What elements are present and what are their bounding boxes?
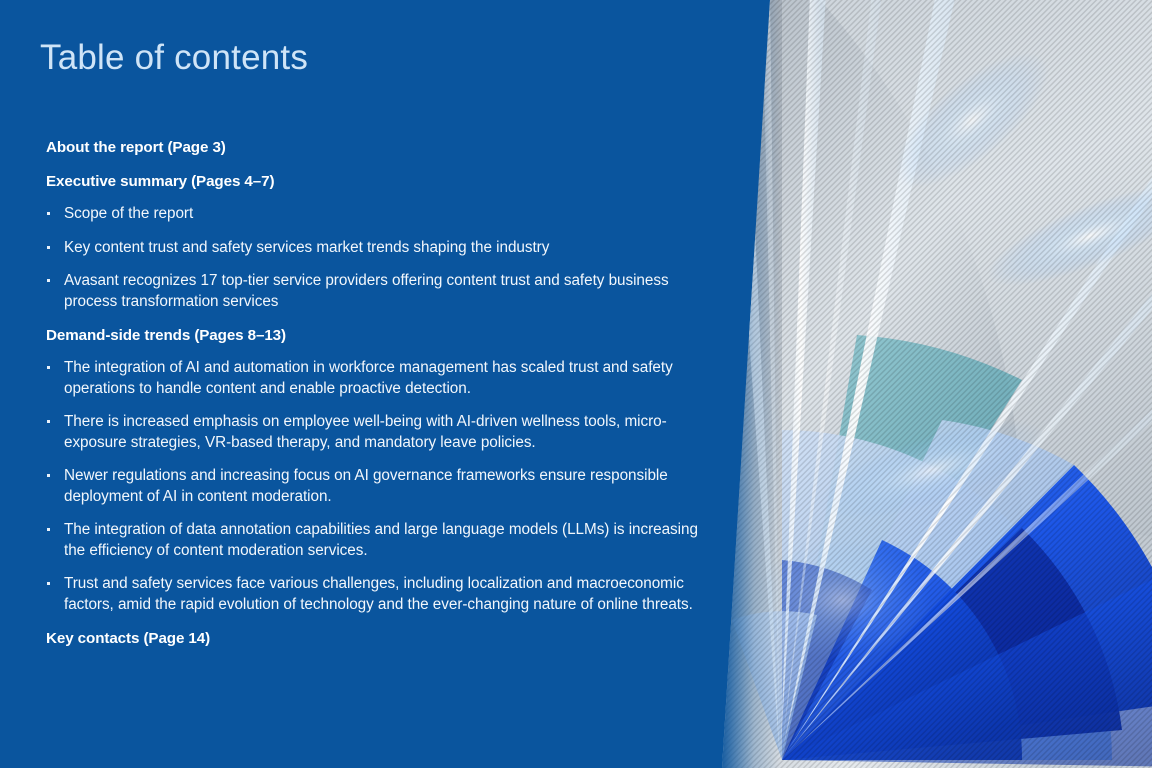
toc-section-heading[interactable]: Key contacts (Page 14) — [46, 629, 706, 649]
toc-bullet-item[interactable]: Trust and safety services face various c… — [46, 574, 706, 615]
bullet-dot-icon — [47, 528, 50, 531]
bullet-dot-icon — [47, 279, 50, 282]
bullet-dot-icon — [47, 212, 50, 215]
toc-bullet-item[interactable]: Key content trust and safety services ma… — [46, 238, 706, 259]
toc-bullet-label: The integration of data annotation capab… — [64, 521, 698, 559]
toc-bullet-item[interactable]: Newer regulations and increasing focus o… — [46, 466, 706, 507]
toc-bullet-item[interactable]: There is increased emphasis on employee … — [46, 412, 706, 453]
slide-root: Table of contents About the report (Page… — [0, 0, 1152, 768]
toc-bullet-item[interactable]: Avasant recognizes 17 top-tier service p… — [46, 271, 706, 312]
toc-section-heading[interactable]: About the report (Page 3) — [46, 138, 706, 158]
bullet-dot-icon — [47, 582, 50, 585]
toc-bullet-item[interactable]: The integration of data annotation capab… — [46, 520, 706, 561]
content-column: Table of contents About the report (Page… — [0, 0, 720, 768]
toc-bullet-item[interactable]: The integration of AI and automation in … — [46, 358, 706, 399]
table-of-contents-list: About the report (Page 3) Executive summ… — [46, 138, 706, 661]
bullet-dot-icon — [47, 474, 50, 477]
toc-bullet-label: Key content trust and safety services ma… — [64, 239, 549, 256]
page-title: Table of contents — [40, 38, 308, 78]
toc-bullet-label: Trust and safety services face various c… — [64, 575, 693, 613]
toc-bullet-label: There is increased emphasis on employee … — [64, 413, 667, 451]
radial-fan-burst-graphic — [722, 0, 1152, 768]
bullet-dot-icon — [47, 366, 50, 369]
toc-section-heading[interactable]: Demand-side trends (Pages 8–13) — [46, 326, 706, 346]
toc-bullet-label: Scope of the report — [64, 205, 193, 222]
bullet-dot-icon — [47, 246, 50, 249]
toc-bullet-label: Newer regulations and increasing focus o… — [64, 467, 668, 505]
toc-section-heading[interactable]: Executive summary (Pages 4–7) — [46, 172, 706, 192]
toc-bullet-label: The integration of AI and automation in … — [64, 359, 673, 397]
bullet-dot-icon — [47, 420, 50, 423]
toc-bullet-item[interactable]: Scope of the report — [46, 204, 706, 225]
toc-bullet-label: Avasant recognizes 17 top-tier service p… — [64, 272, 669, 310]
